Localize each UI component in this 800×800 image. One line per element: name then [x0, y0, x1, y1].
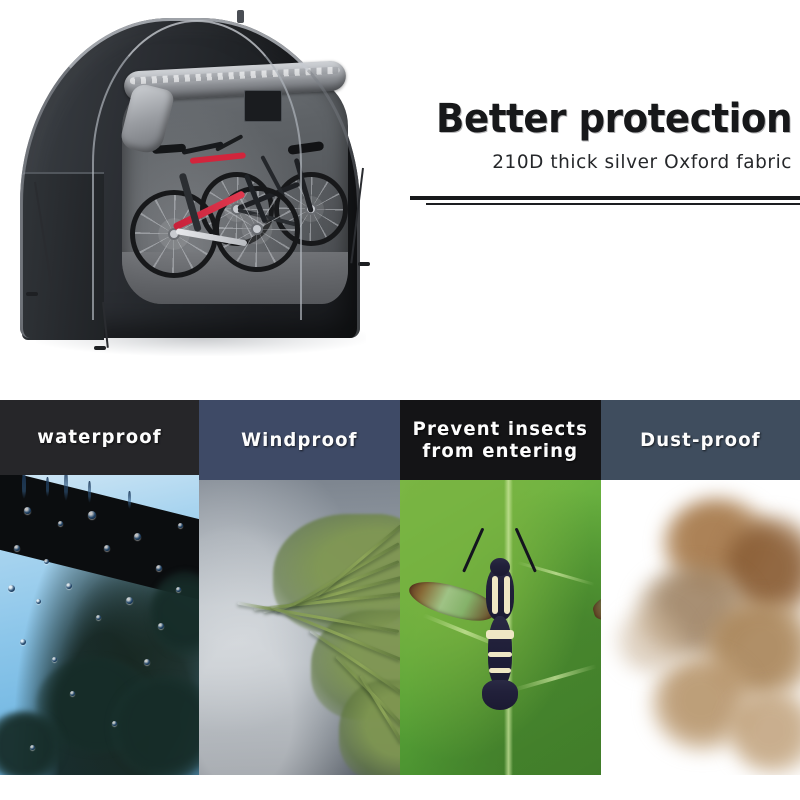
- water-droplet: [178, 523, 183, 528]
- feature-band: waterproof: [0, 400, 800, 775]
- feature-label-text: Dust-proof: [640, 429, 761, 451]
- feature-label-text: Prevent insects from entering: [413, 418, 588, 463]
- moth-wing-left: [405, 574, 498, 627]
- water-droplet: [112, 721, 117, 726]
- moth-band: [489, 668, 511, 673]
- moth-antenna-right: [515, 528, 537, 573]
- tent-zipper-arc: [92, 20, 302, 320]
- feature-photo-insects: [400, 480, 601, 775]
- water-droplet: [134, 533, 141, 540]
- page-title: Better protection: [435, 96, 792, 142]
- moth: [400, 480, 601, 775]
- headline-block: Better protection 210D thick silver Oxfo…: [408, 96, 792, 174]
- moth-band: [492, 576, 498, 614]
- water-droplet: [96, 615, 101, 620]
- water-droplet: [8, 585, 15, 592]
- water-streak: [46, 477, 49, 497]
- feature-panel-insects: Prevent insects from entering: [400, 400, 601, 775]
- water-droplet: [66, 583, 72, 589]
- water-droplet: [20, 639, 26, 645]
- divider-thick: [410, 196, 800, 200]
- feature-label-dustproof: Dust-proof: [601, 400, 800, 480]
- moth-abdomen: [488, 616, 512, 686]
- water-droplet: [88, 511, 96, 519]
- water-streak: [88, 481, 91, 503]
- feature-photo-windproof: [199, 480, 400, 775]
- divider-thin: [426, 203, 800, 205]
- feature-panel-waterproof: waterproof: [0, 400, 199, 775]
- tent-stake: [94, 346, 106, 350]
- feature-label-line-2: from entering: [423, 440, 579, 462]
- moth-wing-right: [590, 574, 601, 627]
- feature-label-insects: Prevent insects from entering: [400, 400, 601, 480]
- water-droplet: [104, 545, 110, 551]
- feature-panel-windproof: Windproof: [199, 400, 400, 775]
- water-droplet: [52, 657, 57, 662]
- feature-panel-dustproof: Dust-proof: [601, 400, 800, 775]
- moth-head: [490, 558, 510, 576]
- moth-tail-fan: [482, 680, 518, 710]
- water-droplet: [158, 623, 164, 629]
- water-droplet: [24, 507, 31, 514]
- moth-antenna-left: [462, 528, 484, 573]
- feature-label-windproof: Windproof: [199, 400, 400, 480]
- water-droplet: [44, 559, 49, 564]
- water-droplet: [156, 565, 162, 571]
- feature-label-line-1: Prevent insects: [413, 418, 588, 440]
- moth-band: [486, 630, 514, 639]
- feature-photo-dustproof: [601, 480, 800, 775]
- hero-section: Better protection 210D thick silver Oxfo…: [0, 0, 800, 400]
- water-droplet: [70, 691, 75, 696]
- dust-cloud: [613, 608, 689, 674]
- water-droplet: [14, 545, 20, 551]
- feature-photo-waterproof: [0, 475, 199, 775]
- water-droplet: [36, 599, 41, 604]
- water-droplet: [58, 521, 63, 526]
- page-subtitle: 210D thick silver Oxford fabric: [420, 150, 792, 174]
- water-droplet: [126, 597, 133, 604]
- tent-top-toggle: [237, 10, 244, 23]
- bottom-white-margin: [0, 775, 800, 800]
- water-streak: [128, 491, 131, 509]
- feature-label-text: waterproof: [37, 426, 162, 448]
- moth-band: [488, 652, 512, 657]
- feature-label-text: Windproof: [241, 429, 358, 451]
- tent-stake: [358, 262, 370, 266]
- water-droplet: [176, 587, 181, 592]
- product-image-bike-tent: [6, 2, 400, 382]
- feature-label-waterproof: waterproof: [0, 400, 199, 475]
- tent-stake: [26, 292, 38, 296]
- water-droplet: [30, 745, 35, 750]
- water-droplet: [144, 659, 150, 665]
- moth-band: [504, 576, 510, 614]
